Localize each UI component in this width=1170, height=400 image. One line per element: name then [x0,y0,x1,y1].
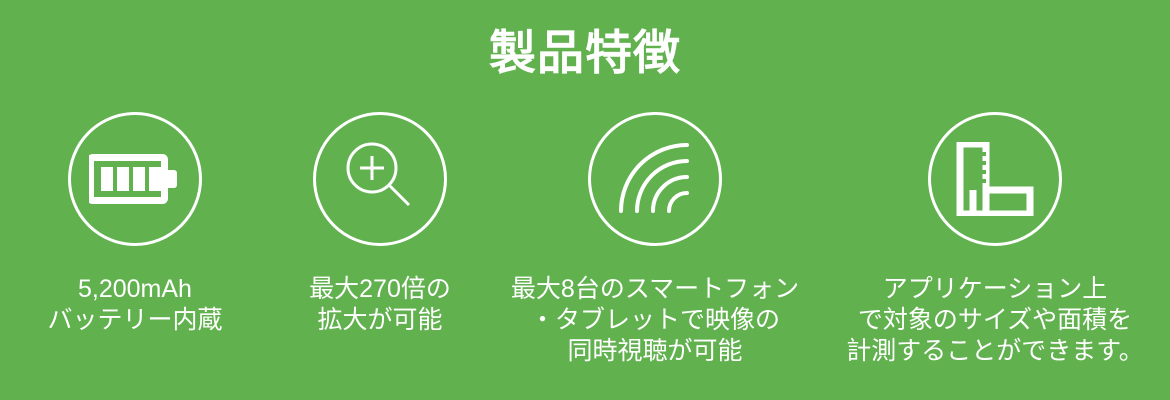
caption-line: 同時視聴が可能 [511,336,799,367]
feature-caption: アプリケーション上 で対象のサイズや面積を 計測することができます。 [846,274,1144,367]
magnifier-plus-icon [339,138,421,220]
ruler-icon [956,142,1034,216]
feature-caption: 最大270倍の 拡大が可能 [309,274,451,336]
caption-line: 最大270倍の [309,274,451,305]
caption-line: 計測することができます。 [846,336,1144,367]
wireless-icon-circle [588,112,722,246]
caption-line: アプリケーション上 [846,274,1144,305]
feature-item-multiview: 最大8台のスマートフォン ・タブレットで映像の 同時視聴が可能 [490,112,820,367]
battery-icon [89,151,181,207]
caption-line: で対象のサイズや面積を [846,305,1144,336]
wireless-signal-icon [615,139,695,219]
feature-caption: 最大8台のスマートフォン ・タブレットで映像の 同時視聴が可能 [511,274,799,367]
caption-line: 最大8台のスマートフォン [511,274,799,305]
caption-line: ・タブレットで映像の [511,305,799,336]
feature-item-measurement: アプリケーション上 で対象のサイズや面積を 計測することができます。 [820,112,1170,367]
feature-list: 5,200mAh バッテリー内蔵 最大270倍の 拡大が可能 [0,112,1170,367]
caption-line: 5,200mAh [47,274,222,305]
ruler-icon-circle [928,112,1062,246]
magnifier-icon-circle [313,112,447,246]
feature-item-magnification: 最大270倍の 拡大が可能 [270,112,490,336]
feature-caption: 5,200mAh バッテリー内蔵 [47,274,222,336]
product-features-banner: 製品特徴 5,200mAh バッテリー内蔵 [0,0,1170,400]
caption-line: バッテリー内蔵 [47,305,222,336]
battery-icon-circle [68,112,202,246]
page-title: 製品特徴 [0,24,1170,82]
caption-line: 拡大が可能 [309,305,451,336]
feature-item-battery: 5,200mAh バッテリー内蔵 [0,112,270,336]
